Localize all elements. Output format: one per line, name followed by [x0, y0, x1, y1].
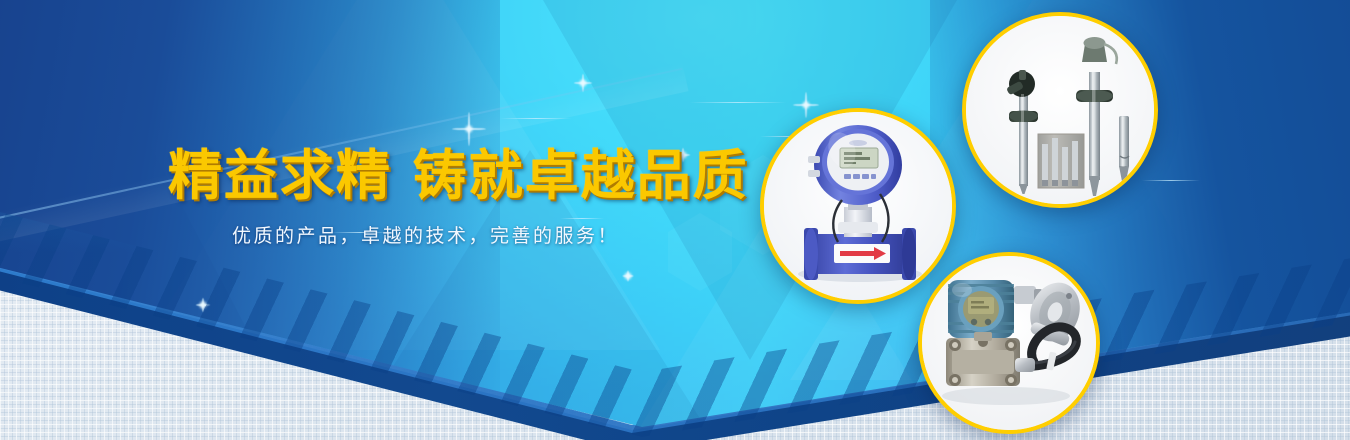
transmitter-photo — [922, 256, 1096, 430]
light-streak — [560, 218, 604, 219]
valve-manifold — [946, 332, 1020, 386]
hexagon-shape — [668, 232, 732, 272]
product-circle-thermocouple[interactable] — [962, 12, 1158, 208]
light-streak — [690, 102, 786, 103]
thermocouple-photo — [966, 16, 1154, 204]
page-title: 精益求精 铸就卓越品质 — [168, 144, 749, 206]
promo-banner: 精益求精 铸就卓越品质 优质的产品，卓越的技术，完善的服务！ — [0, 0, 1350, 440]
page-subtitle: 优质的产品，卓越的技术，完善的服务！ — [232, 222, 619, 250]
probe-tip-bundle — [1038, 134, 1084, 188]
product-circle-transmitter[interactable] — [918, 252, 1100, 434]
